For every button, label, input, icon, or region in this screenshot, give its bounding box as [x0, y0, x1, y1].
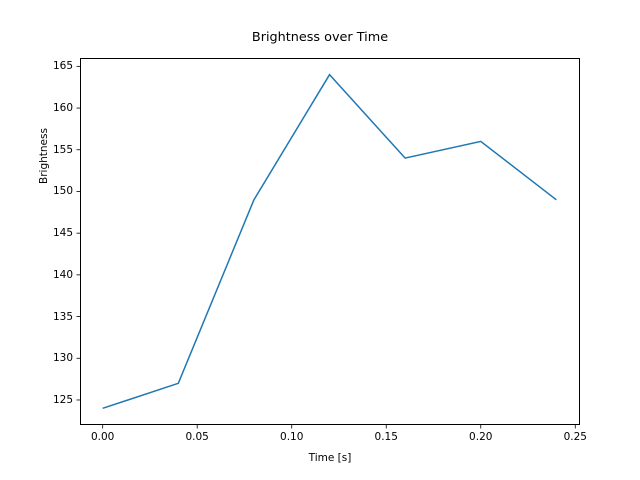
x-tick-label: 0.15 — [356, 431, 416, 443]
y-axis-tick-labels: 125130135140145150155160165 — [29, 0, 73, 480]
y-tick-label: 140 — [33, 269, 73, 281]
x-tick-label: 0.00 — [73, 431, 133, 443]
y-tick-label: 135 — [33, 311, 73, 323]
y-axis-label: Brightness — [38, 76, 50, 236]
y-tick-label: 130 — [33, 352, 73, 364]
y-tick-label: 165 — [33, 60, 73, 72]
chart-title: Brightness over Time — [0, 30, 640, 45]
x-tick-label: 0.20 — [451, 431, 511, 443]
figure-canvas: Brightness over Time 1251301351401451501… — [0, 0, 640, 480]
x-tick-label: 0.10 — [262, 431, 322, 443]
x-tick-label: 0.05 — [167, 431, 227, 443]
plot-axes-frame — [80, 58, 580, 425]
y-tick-label: 125 — [33, 394, 73, 406]
x-axis-label: Time [s] — [80, 452, 580, 464]
x-tick-label: 0.25 — [545, 431, 605, 443]
